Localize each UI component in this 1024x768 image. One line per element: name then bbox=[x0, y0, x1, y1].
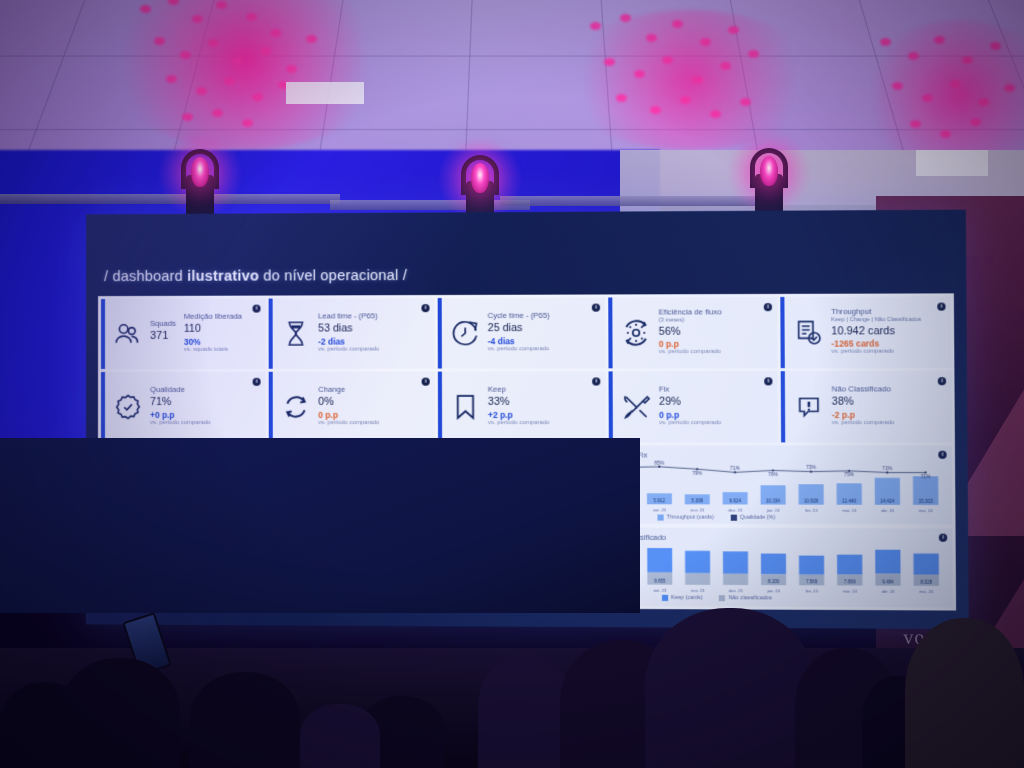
chart3-legend: Keep (cards) Não classificados bbox=[490, 594, 945, 602]
legend-item: Throughput (cards) bbox=[657, 515, 714, 521]
svg-text:67: 67 bbox=[210, 542, 216, 548]
svg-text:jan. 24: jan. 24 bbox=[766, 588, 781, 593]
svg-text:set. 23: set. 23 bbox=[207, 585, 221, 590]
kpi-delta: -2 p.p bbox=[832, 409, 937, 420]
kpi-value: 38% bbox=[832, 395, 937, 410]
svg-text:15.303: 15.303 bbox=[918, 499, 933, 504]
ceiling-duct bbox=[500, 196, 760, 206]
chart-title: Eficiência de Fluxo, Lead Time e Cycle T… bbox=[108, 450, 472, 460]
kpi-footnote: vs. período comparado bbox=[659, 349, 763, 357]
kpi-card-throughput[interactable]: i Throughput Keep | Change | Não Classif… bbox=[780, 296, 951, 368]
svg-text:dez. 23: dez. 23 bbox=[729, 588, 744, 593]
svg-text:59%: 59% bbox=[360, 478, 371, 484]
svg-text:5.912: 5.912 bbox=[654, 498, 666, 503]
svg-text:jan. 24: jan. 24 bbox=[766, 508, 781, 513]
kpi-sublabel: Keep | Change | Não Classificados bbox=[831, 317, 936, 324]
kpi-value: 25 dias bbox=[488, 321, 591, 336]
kpi-card-nao-classificado[interactable]: i Não Classificado 38% -2 p.p vs. períod… bbox=[781, 371, 952, 443]
svg-text:60%: 60% bbox=[421, 477, 432, 483]
svg-text:7.175: 7.175 bbox=[504, 578, 516, 583]
kpi-delta: 0 p.p bbox=[318, 409, 420, 420]
svg-text:76%: 76% bbox=[768, 472, 779, 478]
kpi-footnote: vs. período comparado bbox=[831, 349, 936, 357]
kpi-card-fix[interactable]: i Fix 29% 0 p.p vs. período comparado bbox=[609, 371, 778, 442]
chart-panel-qualidade-throughput[interactable]: i Qualidade e Throughput - Keep | Change… bbox=[483, 445, 952, 524]
kpi-value: 33% bbox=[488, 395, 591, 410]
chart-title: Qualidade e Throughput - Keep | Change e… bbox=[490, 450, 945, 460]
chart1-legend: Lead Time (dias) Cycle Time (dias) Efici… bbox=[108, 592, 472, 600]
svg-text:8.507: 8.507 bbox=[579, 578, 591, 583]
chart3-plot: 7.175jun. 238.067jul. 238.507ago. 236.92… bbox=[490, 542, 945, 595]
legend-label: Cycle Time (dias) bbox=[269, 593, 311, 599]
svg-text:10.928: 10.928 bbox=[804, 499, 819, 504]
kpi-footnote: vs. período comparado bbox=[488, 346, 591, 354]
svg-text:63: 63 bbox=[241, 545, 247, 551]
legend-item: Keep (cards) bbox=[662, 595, 703, 601]
legend-label: Eficiência Fluxo (%) bbox=[336, 593, 384, 599]
svg-text:50%: 50% bbox=[269, 494, 280, 500]
legend-label: Não classificados bbox=[729, 595, 772, 601]
svg-text:dez. 23: dez. 23 bbox=[728, 508, 743, 513]
svg-text:71%: 71% bbox=[921, 474, 932, 480]
svg-text:24: 24 bbox=[363, 577, 369, 582]
svg-text:fev. 24: fev. 24 bbox=[805, 589, 818, 594]
kpi-value: 56% bbox=[659, 324, 763, 339]
wrench-screwdriver-icon bbox=[619, 390, 654, 424]
svg-text:mai. 24: mai. 24 bbox=[919, 508, 934, 513]
svg-text:55: 55 bbox=[454, 549, 460, 555]
svg-text:72: 72 bbox=[180, 540, 186, 546]
slide-title-bold: ilustrativo bbox=[187, 269, 259, 285]
kpi-value: 110 bbox=[184, 322, 242, 336]
svg-text:40%: 40% bbox=[118, 493, 129, 499]
svg-text:set. 23: set. 23 bbox=[616, 588, 629, 593]
svg-text:set. 23: set. 23 bbox=[615, 507, 628, 512]
kpi-label: Medição liberada bbox=[184, 313, 242, 322]
svg-text:3.829: 3.829 bbox=[503, 498, 515, 503]
svg-text:jun. 23: jun. 23 bbox=[502, 587, 516, 592]
svg-text:56%: 56% bbox=[239, 480, 250, 486]
svg-text:50%: 50% bbox=[390, 485, 401, 491]
kpi-label: Change bbox=[318, 386, 420, 395]
svg-text:jul. 23: jul. 23 bbox=[540, 507, 553, 512]
chart-panel-throughput-breakdown[interactable]: i Throughput - Keep | Change, Fix e Não … bbox=[483, 527, 953, 607]
info-icon[interactable]: i bbox=[422, 378, 430, 386]
kpi-delta: 0 p.p bbox=[659, 409, 763, 420]
air-vent bbox=[286, 82, 364, 104]
svg-text:73%: 73% bbox=[806, 466, 817, 472]
kpi-footnote: vs. período comparado bbox=[488, 420, 591, 428]
kpi-label: Fix bbox=[659, 386, 763, 395]
svg-text:79%: 79% bbox=[692, 471, 703, 477]
svg-text:51%: 51% bbox=[299, 493, 310, 499]
hourglass-icon bbox=[279, 316, 313, 350]
kpi-row-2: i Qualidade 71% +0 p.p vs. período compa… bbox=[101, 371, 952, 443]
kpi-delta: 30% bbox=[184, 336, 242, 347]
svg-text:83%: 83% bbox=[617, 469, 628, 475]
kpi-card-flow-efficiency[interactable]: i Eficiência de fluxo (3 meses) 56% 0 p.… bbox=[608, 297, 777, 368]
svg-text:51: 51 bbox=[362, 551, 368, 557]
info-icon[interactable]: i bbox=[764, 303, 772, 311]
svg-text:71%: 71% bbox=[730, 466, 741, 472]
light-splash bbox=[560, 10, 820, 150]
svg-text:50: 50 bbox=[393, 552, 399, 558]
kpi-card-lead-time[interactable]: i Lead time - (P65) 53 dias -2 dias vs. … bbox=[269, 298, 435, 369]
svg-text:jun. 23: jun. 23 bbox=[502, 507, 516, 512]
svg-text:21: 21 bbox=[241, 576, 247, 581]
svg-text:8.328: 8.328 bbox=[921, 580, 933, 585]
svg-text:abr. 24: abr. 24 bbox=[881, 508, 895, 513]
kpi-value: 71% bbox=[150, 395, 252, 409]
legend-item: Cycle Time (dias) bbox=[260, 593, 311, 599]
svg-text:8.067: 8.067 bbox=[541, 578, 553, 583]
svg-text:dez. 23: dez. 23 bbox=[297, 585, 312, 590]
svg-text:19: 19 bbox=[181, 576, 187, 581]
svg-text:11.440: 11.440 bbox=[842, 499, 857, 504]
svg-text:9.655: 9.655 bbox=[654, 579, 666, 584]
kpi-value-a: 371 bbox=[150, 329, 176, 344]
kpi-label: Eficiência de fluxo bbox=[659, 308, 763, 317]
kpi-label: Qualidade bbox=[150, 386, 252, 395]
legend-item: Não classificados bbox=[719, 595, 772, 601]
info-icon[interactable]: i bbox=[764, 377, 772, 385]
kpi-card-qualidade[interactable]: i Qualidade 71% +0 p.p vs. período compa… bbox=[101, 372, 266, 442]
svg-text:55%: 55% bbox=[329, 481, 340, 487]
kpi-delta: -2 dias bbox=[318, 336, 420, 347]
svg-text:68: 68 bbox=[301, 542, 307, 548]
svg-text:5.337: 5.337 bbox=[541, 498, 553, 503]
svg-text:mar. 24: mar. 24 bbox=[388, 586, 403, 591]
chart-panel-flow-efficiency[interactable]: i Eficiência de Fluxo, Lead Time e Cycle… bbox=[101, 445, 479, 605]
svg-text:mai. 24: mai. 24 bbox=[919, 589, 934, 594]
quality-badge-check-icon bbox=[111, 390, 145, 424]
legend-label: Keep (cards) bbox=[671, 595, 703, 601]
alert-card-icon bbox=[791, 389, 826, 424]
legend-label: Lead Time (dias) bbox=[203, 593, 243, 599]
svg-text:19: 19 bbox=[151, 576, 157, 581]
info-icon[interactable]: i bbox=[253, 378, 261, 386]
svg-text:out. 23: out. 23 bbox=[653, 508, 667, 513]
svg-text:40%: 40% bbox=[148, 501, 159, 507]
kpi-delta: +2 p.p bbox=[488, 409, 591, 420]
svg-text:23: 23 bbox=[302, 576, 308, 581]
info-icon[interactable]: i bbox=[592, 377, 600, 385]
svg-text:85%: 85% bbox=[654, 461, 665, 467]
kpi-card-change[interactable]: i Change 0% 0 p.p vs. período comparado bbox=[269, 372, 435, 443]
svg-text:jul. 23: jul. 23 bbox=[540, 587, 553, 592]
svg-text:6.319: 6.319 bbox=[578, 498, 590, 503]
chart2-legend: Throughput (cards) Qualidade (%) bbox=[490, 514, 945, 521]
kpi-label: Keep bbox=[488, 386, 591, 395]
chart1-plot: 1549jun. 2310019jul. 237219ago. 236715se… bbox=[108, 466, 472, 592]
kpi-card-squads[interactable]: i Squads 371 Medição liberada 1 bbox=[101, 299, 266, 369]
svg-text:86%: 86% bbox=[579, 460, 589, 466]
info-icon[interactable]: i bbox=[466, 450, 474, 458]
kpi-footnote: vs. período comparado bbox=[659, 420, 763, 428]
air-vent bbox=[916, 150, 988, 176]
gear-cycle-icon bbox=[619, 316, 654, 351]
slide-title: / dashboard ilustrativo do nível operaci… bbox=[104, 268, 407, 285]
svg-text:mar. 24: mar. 24 bbox=[843, 589, 858, 594]
legend-item: Eficiência Fluxo (%) bbox=[327, 593, 385, 599]
kpi-value: 29% bbox=[659, 395, 763, 410]
svg-text:70: 70 bbox=[271, 541, 277, 547]
svg-text:19: 19 bbox=[271, 576, 277, 581]
kpi-label: Throughput bbox=[831, 308, 936, 317]
svg-text:10.334: 10.334 bbox=[766, 499, 781, 504]
kpi-label-a: Squads bbox=[150, 320, 176, 329]
kpi-value: 53 dias bbox=[318, 321, 420, 336]
dashboard: i Squads 371 Medição liberada 1 bbox=[98, 293, 956, 610]
kpi-footnote: vs. período comparado bbox=[318, 420, 420, 428]
svg-text:88%: 88% bbox=[504, 459, 514, 465]
legend-label: Throughput (cards) bbox=[667, 515, 714, 521]
kpi-value: 0% bbox=[318, 395, 420, 409]
svg-text:45%: 45% bbox=[178, 489, 189, 495]
svg-text:jul. 23: jul. 23 bbox=[146, 584, 159, 589]
kpi-delta: 0 p.p bbox=[659, 339, 763, 350]
svg-text:6.624: 6.624 bbox=[729, 499, 741, 504]
svg-text:71%: 71% bbox=[882, 466, 893, 472]
bookmark-icon bbox=[448, 390, 483, 424]
info-icon[interactable]: i bbox=[937, 303, 945, 311]
svg-text:out. 23: out. 23 bbox=[237, 585, 251, 590]
squads-people-icon bbox=[111, 317, 145, 351]
kpi-value: 10.942 cards bbox=[831, 324, 936, 339]
clock-arrow-icon bbox=[448, 316, 483, 350]
info-icon[interactable]: i bbox=[252, 305, 260, 313]
info-icon[interactable]: i bbox=[421, 304, 429, 312]
svg-text:6.921: 6.921 bbox=[616, 579, 628, 584]
svg-text:9.484: 9.484 bbox=[882, 580, 894, 585]
svg-text:47%: 47% bbox=[208, 496, 219, 502]
kpi-delta: -1265 cards bbox=[831, 338, 936, 349]
svg-text:mai. 24: mai. 24 bbox=[449, 586, 464, 591]
svg-text:nov. 23: nov. 23 bbox=[267, 585, 282, 590]
info-icon[interactable]: i bbox=[592, 304, 600, 312]
legend-item: Qualidade (%) bbox=[730, 515, 775, 521]
svg-text:ago. 23: ago. 23 bbox=[176, 585, 191, 590]
kpi-card-keep[interactable]: i Keep 33% +2 p.p vs. período comparado bbox=[438, 371, 606, 442]
svg-text:abr. 24: abr. 24 bbox=[881, 589, 895, 594]
svg-text:nov. 23: nov. 23 bbox=[691, 588, 705, 593]
svg-text:jun. 23: jun. 23 bbox=[115, 584, 130, 589]
svg-text:75%: 75% bbox=[844, 473, 855, 479]
svg-text:abr. 24: abr. 24 bbox=[419, 586, 433, 591]
svg-text:55: 55 bbox=[423, 549, 429, 555]
svg-text:7.899: 7.899 bbox=[844, 580, 856, 585]
info-icon[interactable]: i bbox=[938, 451, 946, 459]
kpi-footnote: vs. squads totais bbox=[184, 347, 242, 355]
chart2-plot: 3.829jun. 235.337jul. 236.319ago. 234.45… bbox=[490, 460, 945, 514]
checklist-card-icon bbox=[791, 315, 826, 350]
svg-text:nov. 23: nov. 23 bbox=[691, 508, 705, 513]
svg-text:88%: 88% bbox=[542, 467, 552, 473]
refresh-cycle-icon bbox=[279, 390, 313, 424]
moving-head-light bbox=[181, 149, 219, 221]
kpi-footnote: vs. período comparado bbox=[318, 346, 420, 354]
svg-text:100: 100 bbox=[149, 526, 158, 532]
svg-text:28: 28 bbox=[332, 576, 338, 581]
svg-text:ago. 23: ago. 23 bbox=[577, 588, 592, 593]
slide-title-suffix: do nível operacional / bbox=[259, 268, 407, 285]
kpi-label: Cycle time - (P65) bbox=[488, 312, 591, 321]
kpi-card-cycle-time[interactable]: i Cycle time - (P65) 25 dias -4 dias vs.… bbox=[438, 298, 606, 369]
svg-text:out. 23: out. 23 bbox=[653, 588, 667, 593]
kpi-footnote: vs. período comparado bbox=[150, 420, 252, 428]
svg-text:29: 29 bbox=[424, 577, 430, 582]
legend-item: Lead Time (dias) bbox=[194, 593, 244, 599]
info-icon[interactable]: i bbox=[939, 534, 947, 542]
kpi-label: Não Classificado bbox=[832, 386, 937, 395]
svg-text:14.424: 14.424 bbox=[880, 499, 895, 504]
svg-text:fev. 24: fev. 24 bbox=[805, 508, 818, 513]
svg-text:63: 63 bbox=[332, 545, 338, 551]
svg-text:4.450: 4.450 bbox=[616, 498, 628, 503]
kpi-row-1: i Squads 371 Medição liberada 1 bbox=[101, 296, 951, 369]
svg-text:57%: 57% bbox=[451, 480, 462, 486]
charts-area: i Eficiência de Fluxo, Lead Time e Cycle… bbox=[101, 445, 953, 607]
svg-text:ago. 23: ago. 23 bbox=[577, 507, 592, 512]
svg-text:15: 15 bbox=[211, 576, 217, 581]
legend-label: Qualidade (%) bbox=[740, 515, 776, 521]
svg-text:29: 29 bbox=[393, 577, 399, 582]
svg-text:7.569: 7.569 bbox=[806, 579, 818, 584]
svg-text:8.209: 8.209 bbox=[768, 579, 780, 584]
svg-text:25: 25 bbox=[454, 577, 460, 582]
slide-title-prefix: / dashboard bbox=[104, 269, 187, 285]
svg-text:jan. 24: jan. 24 bbox=[327, 585, 342, 590]
svg-text:mar. 24: mar. 24 bbox=[842, 508, 857, 513]
projection-screen: / dashboard ilustrativo do nível operaci… bbox=[86, 210, 969, 629]
svg-text:5.399: 5.399 bbox=[691, 498, 703, 503]
svg-text:fev. 24: fev. 24 bbox=[359, 585, 373, 590]
kpi-footnote: vs. período comparado bbox=[832, 420, 937, 428]
moving-head-light bbox=[750, 148, 788, 220]
kpi-label: Lead time - (P65) bbox=[318, 312, 420, 321]
kpi-delta: +0 p.p bbox=[150, 409, 252, 420]
info-icon[interactable]: i bbox=[938, 377, 946, 385]
kpi-delta: -4 dias bbox=[488, 336, 591, 347]
